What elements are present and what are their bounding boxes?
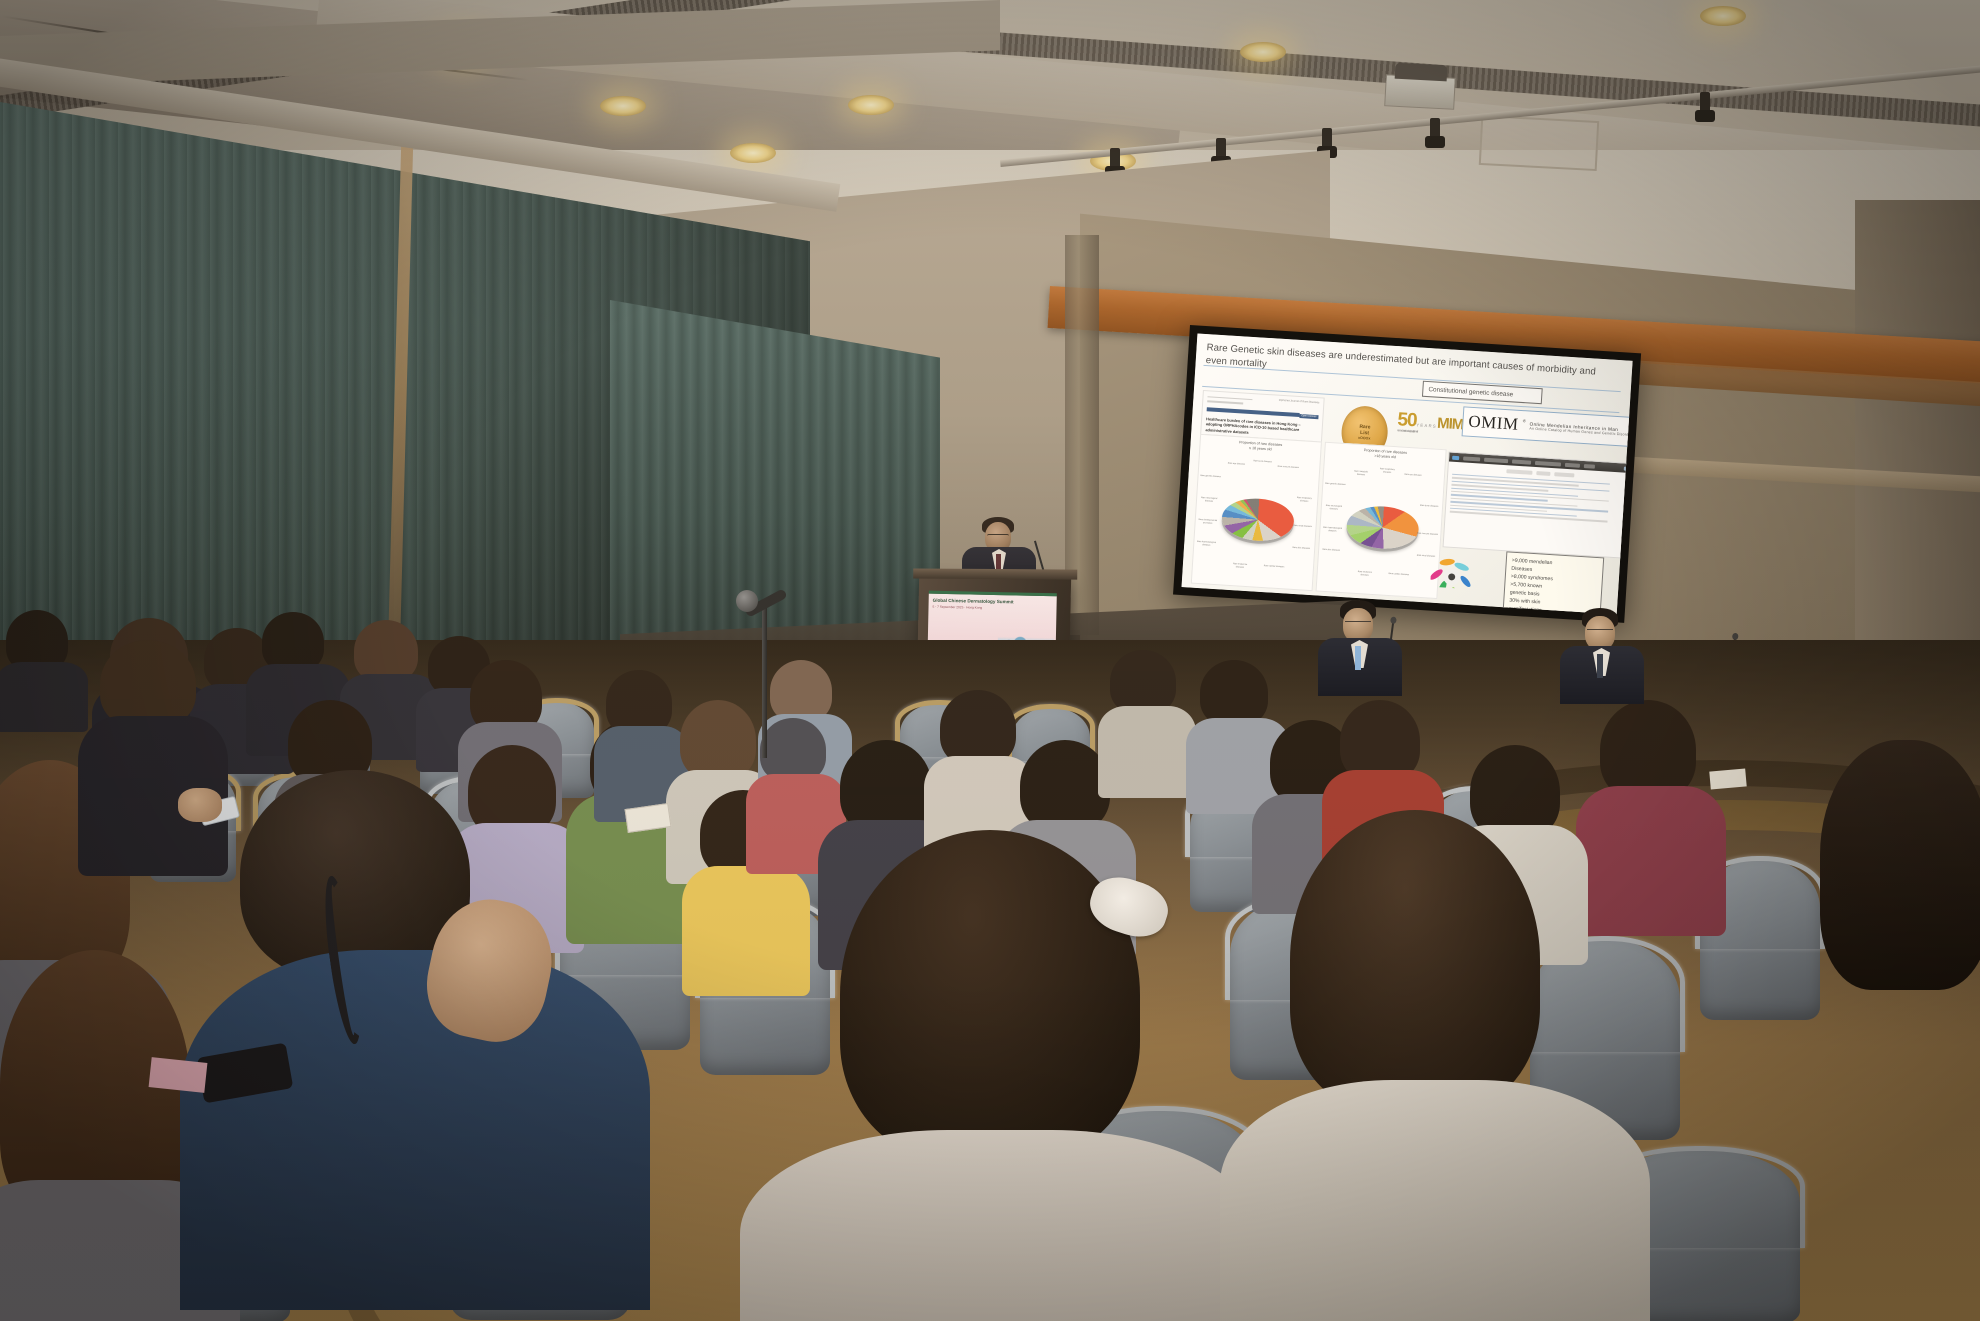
downlight-4 [848,95,894,115]
downlight-6 [1240,42,1286,62]
floor-mic-stand-pole [762,608,767,758]
curtain-center [610,300,940,660]
panelist-left-head [1343,608,1373,642]
omim-logo-box: OMIM ® Online Mendelian Inheritance in M… [1462,406,1633,447]
panelist-right-glasses-icon [1587,629,1613,634]
pie-1-graphic [1221,496,1295,542]
pie-2-label-k: Rare respiratory diseases [1376,468,1398,475]
name-badge-2 [149,1057,208,1093]
downlight-3 [730,143,776,163]
projection-screen: Rare Genetic skin diseases are underesti… [1173,325,1641,623]
rare-disease-hand-icon [1430,547,1474,590]
podium-top-surface [913,568,1077,579]
ceiling-access-hatch [1479,115,1599,171]
pie-2-label-i: Rare bone diseases [1418,505,1440,509]
track-light-head-5 [1700,92,1710,116]
track-light-head-3 [1322,128,1332,152]
pie-1-label-c: Rare developmental anomalies [1197,519,1219,526]
open-access-badge: Open Access [1299,414,1319,419]
microphone-icon[interactable] [736,590,758,612]
audience-hand-holding-phone [178,788,222,822]
omim-anniv-wordmark: MIM [1437,415,1464,434]
ceiling-projector [1384,74,1456,110]
pie-1-label-g: Rare skin diseases [1290,547,1312,551]
pie-chart-panel-2: Proportion of rare diseases >18 years ol… [1316,442,1447,599]
downlight-7 [1700,6,1746,26]
presentation-slide: Rare Genetic skin diseases are underesti… [1182,333,1633,614]
pie-1-label-h: Rare renal diseases [1291,525,1313,529]
panelist-right-tie [1597,654,1603,678]
pie-2-label-l: Rare metabolic diseases [1350,470,1372,477]
pie-2-label-h: Rare immune diseases [1416,533,1438,537]
rare-badge-line3: xOOOx [1358,436,1371,441]
pie-2-label-b: Rare neurological diseases [1323,505,1345,512]
track-light-head-1 [1110,148,1120,172]
screen-surface: Rare Genetic skin diseases are underesti… [1182,333,1633,614]
panelist-left-glasses-icon [1345,621,1371,626]
pie-2-label-j: Rare eye diseases [1402,474,1424,478]
speaker-glasses-icon [987,534,1009,539]
pie-1-label-f: Rare cardiac diseases [1263,565,1285,569]
mendelian-stats-box: >9,000 mendelian Diseases >8,000 syndrom… [1503,551,1605,614]
omim-registered-mark: ® [1523,418,1526,423]
pie-1-label-j: Rare immune diseases [1277,466,1299,470]
pie-2-label-d: Rare skin diseases [1320,549,1342,553]
pie-2-label-a: Rare genetic diseases [1324,483,1346,487]
panelist-left-tie [1355,646,1361,670]
pie-1-label-i: Rare respiratory diseases [1293,497,1315,504]
pie-1-label-d: Rare haematological diseases [1195,541,1217,548]
track-light-head-4 [1430,118,1440,142]
panelist-right-head [1585,616,1615,650]
pie-1-label-b: Rare neurological diseases [1198,497,1220,504]
downlight-2 [600,96,646,116]
pie-1-caption: Proportion of rare diseases ≤ 18 years o… [1200,438,1320,455]
slide-title: Rare Genetic skin diseases are underesti… [1205,342,1605,392]
track-light-head-2 [1216,138,1226,162]
pie-2-label-c: Rare haematological diseases [1321,527,1343,534]
pie-1-label-k: Rare bone diseases [1251,460,1273,464]
journal-name: Orphanet Journal of Rare Diseases [1279,399,1320,406]
name-badge-3 [1709,768,1746,789]
browser-content [1445,462,1632,530]
pie-2-caption: Proportion of rare diseases >18 years ol… [1325,446,1445,463]
pie-2-label-e: Rare endocrine diseases [1354,571,1376,578]
pie-2-graphic [1345,504,1419,550]
omim-wordmark: OMIM [1468,412,1519,435]
pie-1-label-e: Rare endocrine diseases [1229,563,1251,570]
omim-browser-screenshot [1443,451,1633,558]
conference-hall-photo: Rare Genetic skin diseases are underesti… [0,0,1980,1321]
pie-chart-panel-1: Proportion of rare diseases ≤ 18 years o… [1191,434,1322,591]
pie-1-label-l: Rare eye diseases [1225,462,1247,466]
pie-1-label-a: Rare genetic diseases [1199,475,1221,479]
omim-anniv-years: YEARS [1416,422,1437,428]
pie-2-label-f: Rare cardiac diseases [1388,573,1410,577]
